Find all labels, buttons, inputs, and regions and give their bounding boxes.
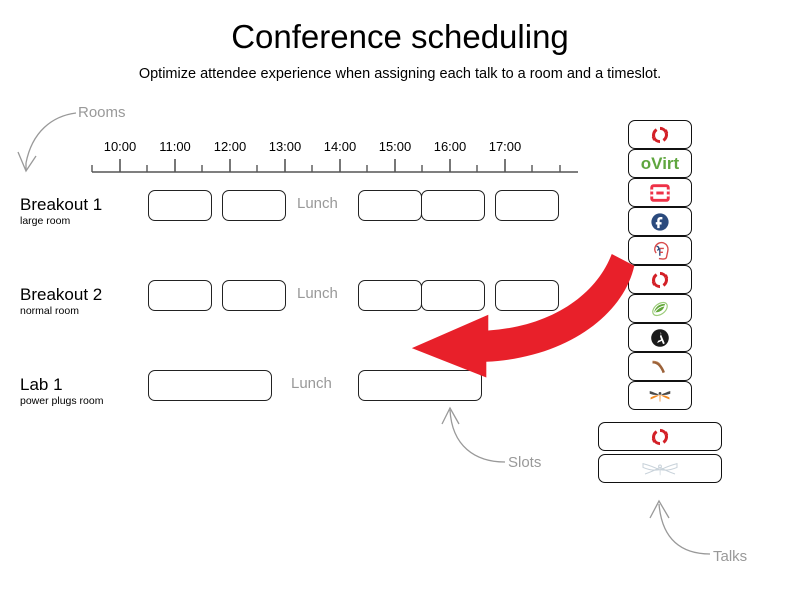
ovirt-logo-icon: oVirt [641,154,679,174]
timeline-tick-1100: 11:00 [159,139,191,154]
jboss-arrows-icon [649,426,671,448]
timeline-tick-1500: 15:00 [379,139,412,154]
room-description: power plugs room [20,395,103,407]
talk-card[interactable] [628,178,692,207]
talk-card[interactable] [628,207,692,236]
timeline-tick-1300: 13:00 [269,139,302,154]
timeline-tick-1000: 10:00 [104,139,137,154]
timeline-tick-1600: 16:00 [434,139,467,154]
slot-box[interactable] [148,370,272,401]
room-name: Breakout 1 [20,195,102,215]
dragonfly-orange-icon [648,386,672,406]
room-description: large room [20,215,70,227]
slot-box[interactable] [222,280,286,311]
room-name: Breakout 2 [20,285,102,305]
lunch-label: Lunch [297,195,338,212]
lunch-label: Lunch [297,285,338,302]
talk-card-wide[interactable] [598,422,722,451]
assignment-red-arrow [410,258,645,373]
timeline-tick-1400: 14:00 [324,139,357,154]
slot-box[interactable] [222,190,286,221]
talk-card-wide[interactable] [598,454,722,483]
talk-card[interactable] [628,381,692,410]
boomerang-icon [649,356,671,378]
talk-card[interactable] [628,120,692,149]
timeline-tick-1200: 12:00 [214,139,247,154]
jboss-arrows-icon [649,124,671,146]
green-leaf-orbit-icon [649,298,671,320]
timeline-tick-1700: 17:00 [489,139,522,154]
talk-card[interactable]: oVirt [628,149,692,178]
fedora-f-icon [649,211,671,233]
room-description: normal room [20,305,79,317]
room-name: Lab 1 [20,375,63,395]
ansible-a-icon [649,327,671,349]
jboss-arrows-icon [649,269,671,291]
face-outline-icon [649,240,671,262]
slot-box[interactable] [358,190,422,221]
dragonfly-faint-icon [640,459,680,479]
slot-box[interactable] [495,190,559,221]
slot-box[interactable] [358,370,482,401]
slot-box[interactable] [148,190,212,221]
slot-box[interactable] [421,190,485,221]
lunch-label: Lunch [291,375,332,392]
redhat-box-icon [649,182,671,204]
slot-box[interactable] [148,280,212,311]
